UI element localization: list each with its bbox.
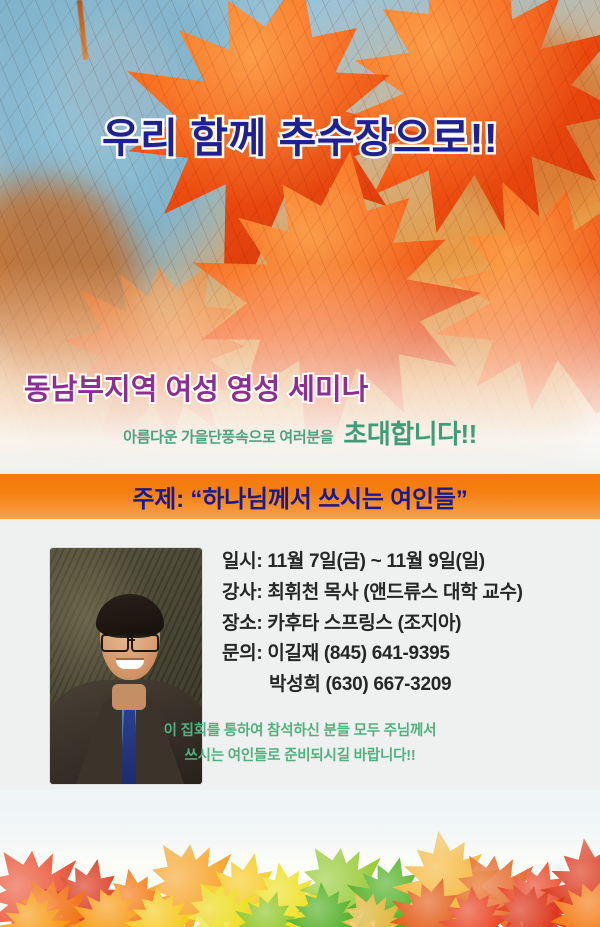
invitation-text-small: 아름다운 가을단풍속으로 여러분을 xyxy=(123,426,333,451)
details-section: 일시: 11월 7일(금) ~ 11월 9일(일) 강사: 최휘천 목사 (앤드… xyxy=(0,519,600,819)
closing-message-line-1: 이 집회를 통하여 참석하신 분들 모두 주님께서 xyxy=(0,719,600,744)
autumn-leaves-border-photo xyxy=(0,790,600,927)
info-line-contact-1: 문의: 이길재 (845) 641-9395 xyxy=(222,639,592,670)
portrait-neck xyxy=(112,684,146,710)
info-line-speaker: 강사: 최휘천 목사 (앤드류스 대학 교수) xyxy=(222,578,592,609)
invitation-text-large: 초대합니다!! xyxy=(343,414,476,451)
info-line-contact-2: 박성희 (630) 667-3209 xyxy=(222,670,592,701)
event-info-block: 일시: 11월 7일(금) ~ 11월 9일(일) 강사: 최휘천 목사 (앤드… xyxy=(222,547,592,701)
invitation-row: 아름다운 가을단풍속으로 여러분을 초대합니다!! xyxy=(0,414,600,451)
border-haze xyxy=(0,790,600,860)
info-line-venue: 장소: 카후타 스프링스 (조지아) xyxy=(222,609,592,640)
glasses-icon xyxy=(100,634,160,649)
closing-message: 이 집회를 통하여 참석하신 분들 모두 주님께서 쓰시는 여인들로 준비되시길… xyxy=(0,719,600,770)
closing-message-line-2: 쓰시는 여인들로 준비되시길 바랍니다!! xyxy=(0,744,600,769)
info-line-date: 일시: 11월 7일(금) ~ 11월 9일(일) xyxy=(222,547,592,578)
page-title: 우리 함께 추수장으로!! xyxy=(0,104,600,164)
seminar-subtitle: 동남부지역 여성 영성 세미나 xyxy=(24,366,584,408)
theme-text: 주제: “하나님께서 쓰시는 여인들” xyxy=(132,479,467,514)
theme-banner: 주제: “하나님께서 쓰시는 여인들” xyxy=(0,474,600,519)
poster-root: 우리 함께 추수장으로!! 동남부지역 여성 영성 세미나 아름다운 가을단풍속… xyxy=(0,0,600,927)
glasses-bridge xyxy=(127,639,135,641)
